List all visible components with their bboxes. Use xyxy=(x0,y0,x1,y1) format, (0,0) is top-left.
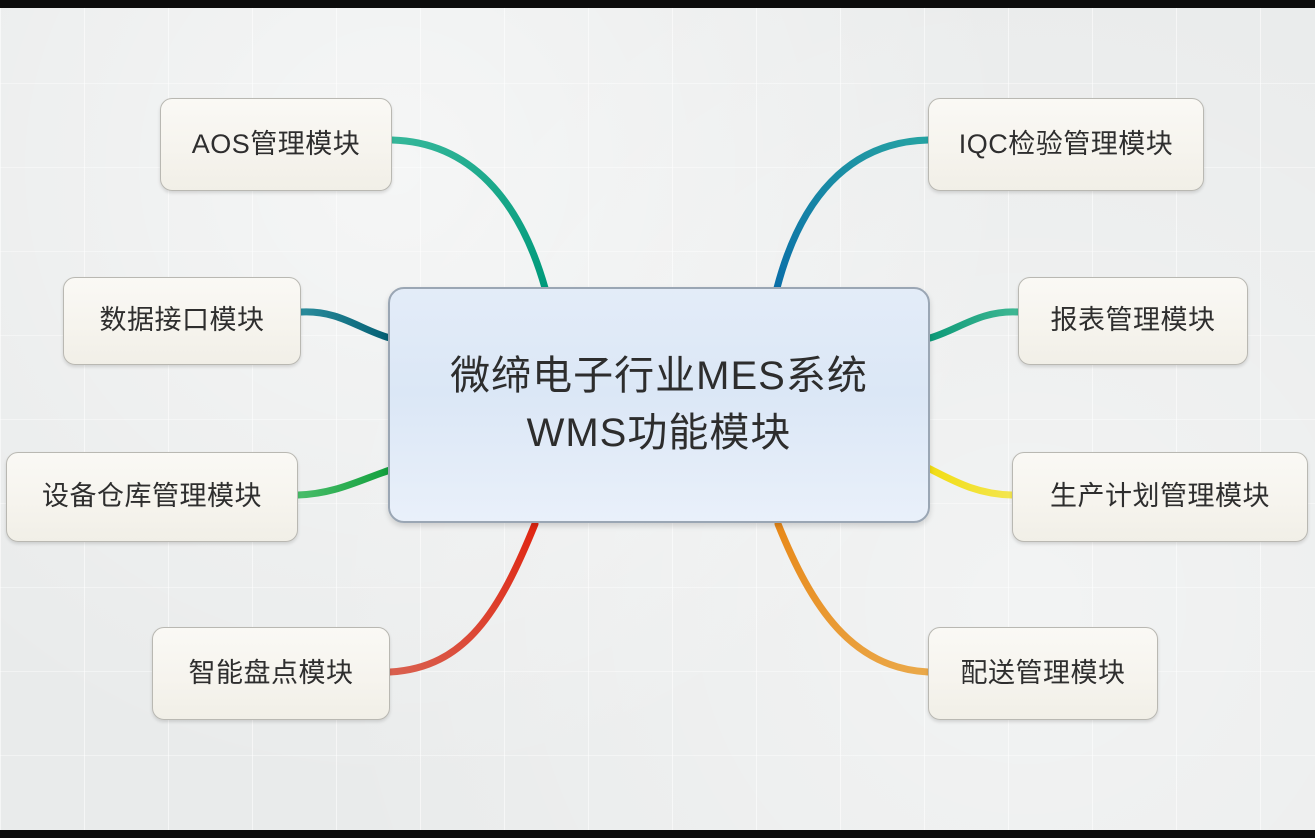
central-topic-line-1: 微缔电子行业MES系统 xyxy=(450,353,868,400)
branch-node-delivery-management[interactable]: 配送管理模块 xyxy=(928,627,1158,720)
bottom-letterbox-bar xyxy=(0,830,1315,838)
connector-delivery-management xyxy=(778,524,928,672)
connector-aos xyxy=(392,140,545,288)
mindmap-canvas: 微缔电子行业MES系统 WMS功能模块 AOS管理模块 数据接口模块 设备仓库管… xyxy=(0,0,1315,838)
branch-label-iqc-inspection: IQC检验管理模块 xyxy=(959,130,1174,160)
branch-node-equipment-warehouse[interactable]: 设备仓库管理模块 xyxy=(6,452,298,542)
connector-smart-stocktaking xyxy=(390,524,535,672)
branch-label-aos: AOS管理模块 xyxy=(192,130,361,160)
branch-label-report-management: 报表管理模块 xyxy=(1051,306,1216,336)
branch-label-data-interface: 数据接口模块 xyxy=(100,306,265,336)
branch-node-smart-stocktaking[interactable]: 智能盘点模块 xyxy=(152,627,390,720)
branch-label-delivery-management: 配送管理模块 xyxy=(961,659,1126,689)
connector-iqc-inspection xyxy=(777,140,928,288)
connector-equipment-warehouse xyxy=(298,470,390,495)
connector-report-management xyxy=(930,312,1018,338)
branch-label-production-plan: 生产计划管理模块 xyxy=(1050,482,1270,512)
branch-node-production-plan[interactable]: 生产计划管理模块 xyxy=(1012,452,1308,542)
branch-label-equipment-warehouse: 设备仓库管理模块 xyxy=(42,482,262,512)
branch-node-data-interface[interactable]: 数据接口模块 xyxy=(63,277,301,365)
branch-node-iqc-inspection[interactable]: IQC检验管理模块 xyxy=(928,98,1204,191)
branch-label-smart-stocktaking: 智能盘点模块 xyxy=(189,659,354,689)
branch-node-aos[interactable]: AOS管理模块 xyxy=(160,98,392,191)
branch-node-report-management[interactable]: 报表管理模块 xyxy=(1018,277,1248,365)
central-topic-line-2: WMS功能模块 xyxy=(527,410,792,457)
top-letterbox-bar xyxy=(0,0,1315,8)
central-topic-node[interactable]: 微缔电子行业MES系统 WMS功能模块 xyxy=(388,287,930,523)
connector-data-interface xyxy=(301,312,390,338)
connector-production-plan xyxy=(928,468,1012,495)
